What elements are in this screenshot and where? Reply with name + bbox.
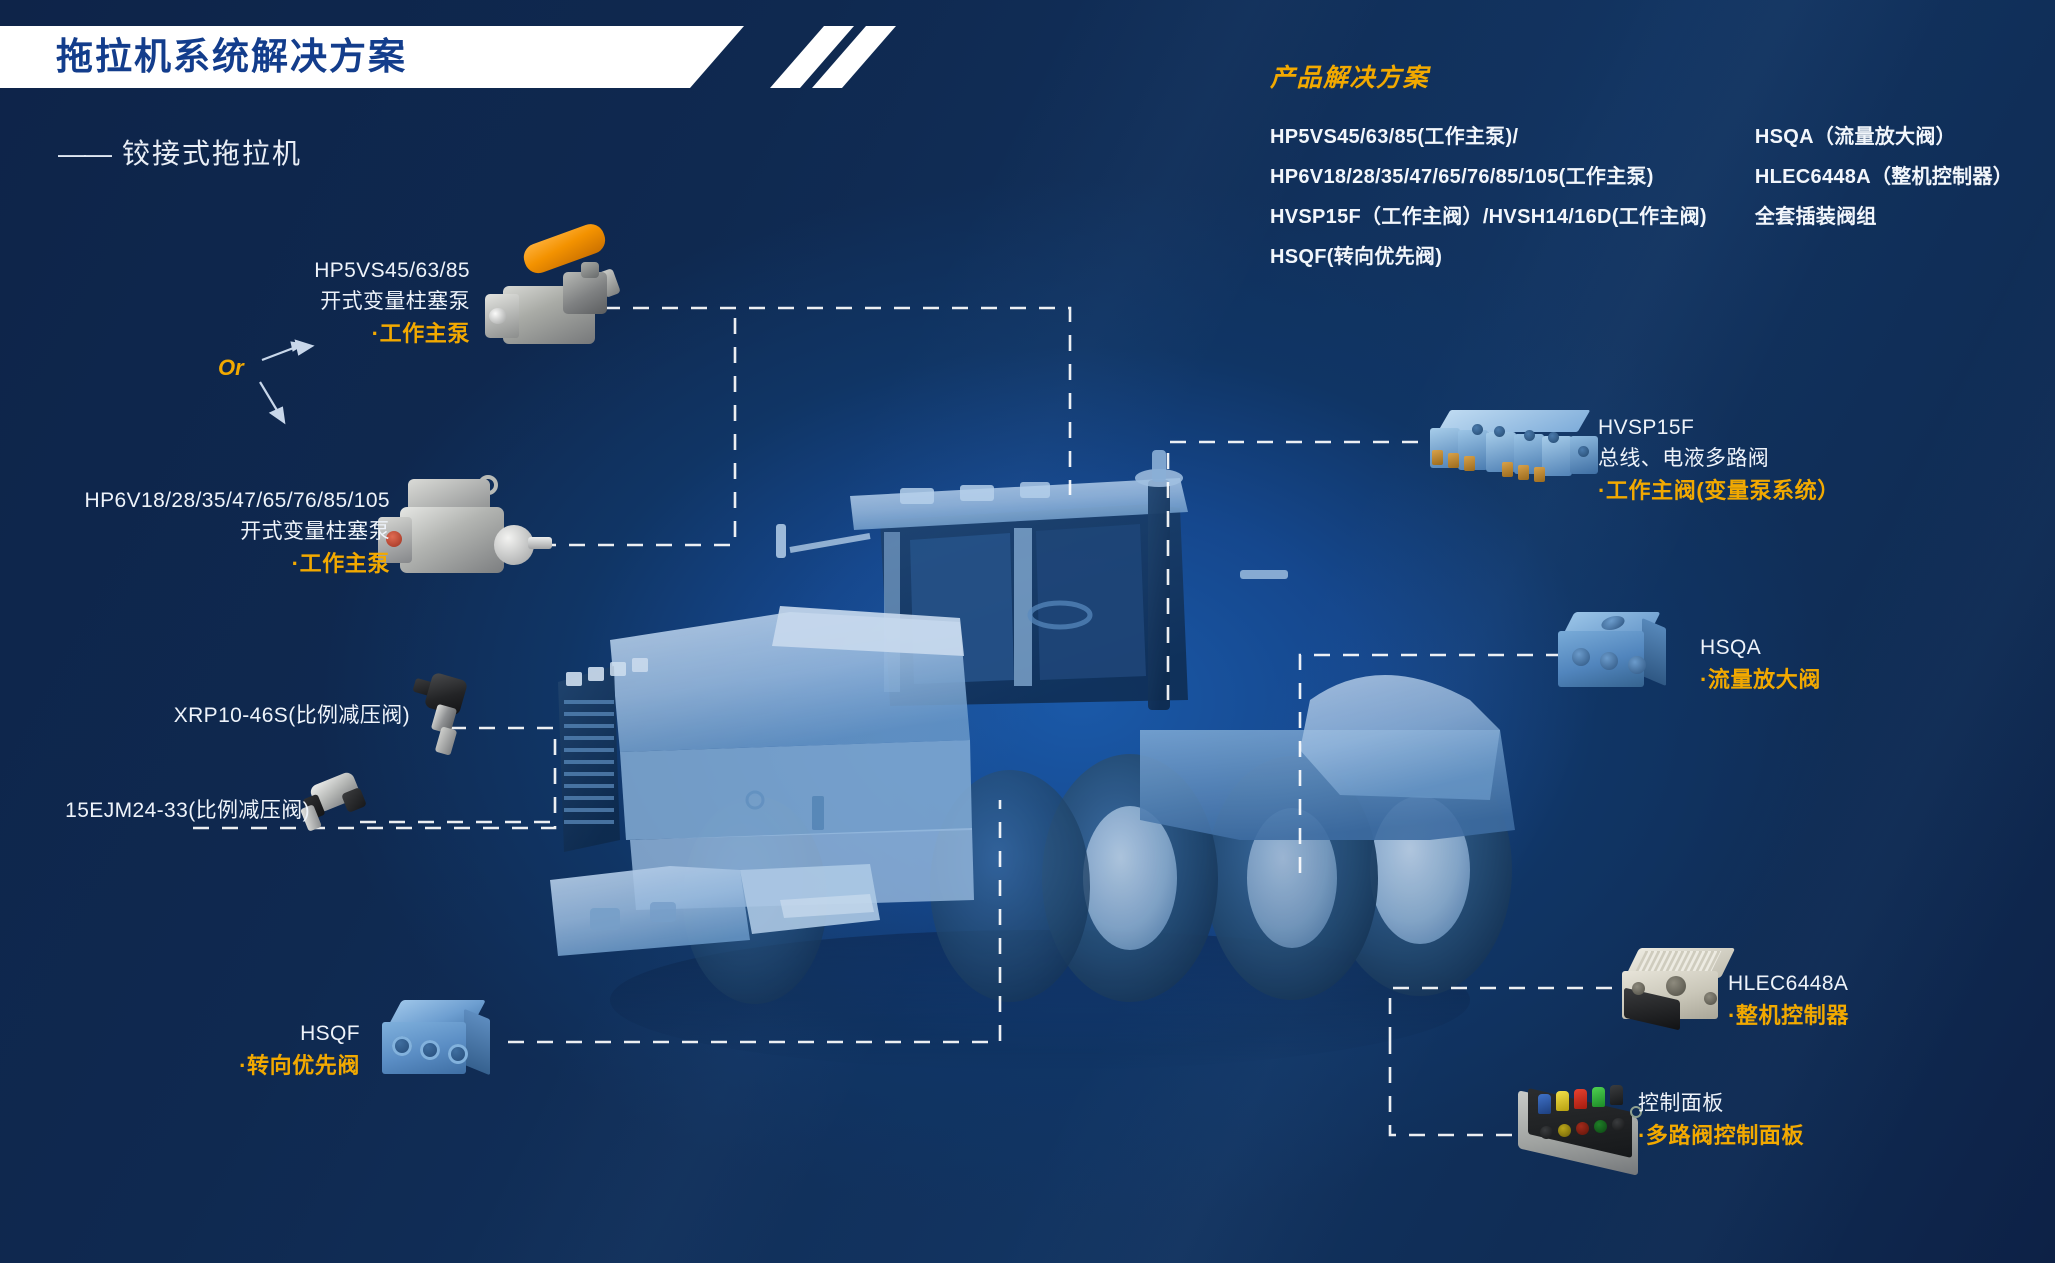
- articulated-tractor-silhouette: [540, 400, 1540, 1100]
- callout-hlec: HLEC6448A ·整机控制器: [1728, 968, 2028, 1032]
- solution-line: HP6V18/28/35/47/65/76/85/105(工作主泵): [1270, 160, 1707, 189]
- callout-hvsp15f: HVSP15F 总线、电液多路阀 ·工作主阀(变量泵系统）: [1598, 412, 1998, 507]
- callout-highlight: ·多路阀控制面板: [1638, 1119, 1968, 1152]
- solution-line: 全套插装阀组: [1755, 200, 2013, 229]
- callout-highlight: ·整机控制器: [1728, 999, 2028, 1032]
- callout-code: XRP10-46S(比例减压阀): [120, 700, 410, 731]
- steering-priority-valve-block-icon: [382, 1000, 512, 1090]
- callout-code: HSQF: [130, 1018, 360, 1049]
- callout-code: HLEC6448A: [1728, 968, 2028, 999]
- callout-highlight: ·转向优先阀: [130, 1049, 360, 1082]
- callout-code: HVSP15F: [1598, 412, 1998, 443]
- product-solutions-columns: HP5VS45/63/85(工作主泵)/ HP6V18/28/35/47/65/…: [1270, 120, 2013, 269]
- callout-highlight: ·工作主泵: [60, 547, 390, 580]
- callout-description: 总线、电液多路阀: [1598, 443, 1998, 474]
- solutions-column-left: HP5VS45/63/85(工作主泵)/ HP6V18/28/35/47/65/…: [1270, 120, 1707, 269]
- subtitle-text: 铰接式拖拉机: [122, 138, 302, 169]
- callout-15ejm: 15EJM24-33(比例减压阀): [30, 795, 310, 826]
- proportional-reducing-valve-icon: [412, 676, 482, 768]
- subtitle-dash: ——: [58, 138, 110, 169]
- diagram-canvas: 拖拉机系统解决方案 ——铰接式拖拉机 产品解决方案 HP5VS45/63/85(…: [0, 0, 2055, 1263]
- solutions-column-right: HSQA（流量放大阀） HLEC6448A（整机控制器） 全套插装阀组: [1755, 120, 2013, 269]
- callout-code: HP5VS45/63/85: [180, 255, 470, 286]
- callout-code: 控制面板: [1638, 1088, 1968, 1119]
- proportional-reducing-valve-small-icon: [300, 770, 380, 860]
- product-solutions-panel: 产品解决方案 HP5VS45/63/85(工作主泵)/ HP6V18/28/35…: [1270, 58, 2013, 269]
- callout-code: 15EJM24-33(比例减压阀): [30, 795, 310, 826]
- or-label: Or: [218, 355, 244, 381]
- callout-code: HP6V18/28/35/47/65/76/85/105: [60, 485, 390, 516]
- multiway-valve-control-panel-icon: [1518, 1082, 1658, 1182]
- callout-xrp10: XRP10-46S(比例减压阀): [120, 700, 410, 731]
- solution-line: HSQF(转向优先阀): [1270, 240, 1707, 269]
- or-arrows: [200, 330, 350, 440]
- solution-line: HVSP15F（工作主阀）/HVSH14/16D(工作主阀): [1270, 200, 1707, 229]
- callout-hp6v: HP6V18/28/35/47/65/76/85/105 开式变量柱塞泵 ·工作…: [60, 485, 390, 580]
- hydraulic-piston-pump-grey-icon: [378, 473, 558, 593]
- page-title: 拖拉机系统解决方案: [56, 32, 407, 82]
- page-subtitle: ——铰接式拖拉机: [58, 132, 302, 172]
- callout-highlight: ·流量放大阀: [1700, 663, 2020, 696]
- callout-description: 开式变量柱塞泵: [60, 516, 390, 547]
- solution-line: HP5VS45/63/85(工作主泵)/: [1270, 120, 1707, 149]
- callout-description: 开式变量柱塞泵: [180, 286, 470, 317]
- product-solutions-title: 产品解决方案: [1270, 58, 2013, 94]
- hydraulic-piston-pump-orange-icon: [485, 250, 635, 360]
- solution-line: HSQA（流量放大阀）: [1755, 120, 2013, 149]
- callout-hsqf: HSQF ·转向优先阀: [130, 1018, 360, 1082]
- tractor-svg: [540, 400, 1540, 1100]
- flow-amplifier-valve-icon: [1558, 612, 1688, 702]
- callout-code: HSQA: [1700, 632, 2020, 663]
- callout-hsqa: HSQA ·流量放大阀: [1700, 632, 2020, 696]
- electrohydraulic-multiway-valve-bank-icon: [1428, 410, 1608, 490]
- callout-highlight: ·工作主阀(变量泵系统）: [1598, 474, 1998, 507]
- callout-control-panel: 控制面板 ·多路阀控制面板: [1638, 1088, 1968, 1152]
- solution-line: HLEC6448A（整机控制器）: [1755, 160, 2013, 189]
